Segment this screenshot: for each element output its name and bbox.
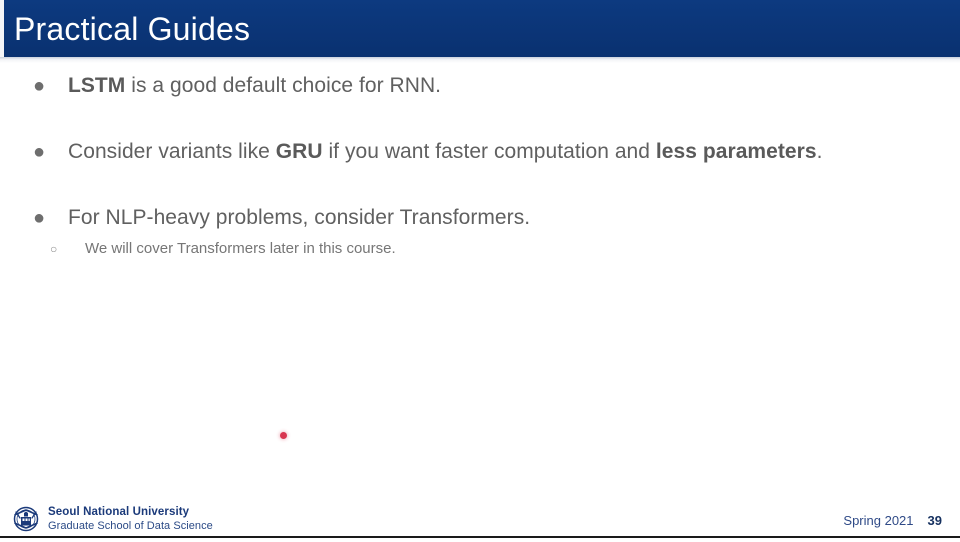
sub-list-item-text: We will cover Transformers later in this… — [85, 236, 960, 262]
sub-list-item: ○ We will cover Transformers later in th… — [0, 236, 960, 262]
bullet-filled-circle-icon: ● — [33, 202, 68, 234]
bullet-filled-circle-icon: ● — [33, 70, 68, 102]
spacer — [0, 102, 960, 136]
seoul-national-university-crest-icon — [10, 503, 42, 535]
list-item-text: Consider variants like GRU if you want f… — [68, 136, 960, 168]
footer-meta: Spring 2021 39 — [843, 513, 942, 528]
list-item-text-part: is a good default choice for RNN. — [125, 74, 441, 97]
slide-header-band: Practical Guides — [0, 0, 960, 57]
list-item: ● Consider variants like GRU if you want… — [0, 136, 960, 168]
spacer — [0, 168, 960, 202]
laser-pointer-dot — [280, 432, 287, 439]
university-logo: Seoul National University Graduate Schoo… — [10, 503, 213, 535]
list-item-text-part: if you want faster computation and — [323, 140, 656, 163]
bottom-edge-fill — [0, 538, 960, 542]
bullet-filled-circle-icon: ● — [33, 136, 68, 168]
slide-content: ● LSTM is a good default choice for RNN.… — [0, 70, 960, 262]
page-number: 39 — [928, 513, 942, 528]
term-label: Spring 2021 — [843, 513, 913, 528]
list-item: ● LSTM is a good default choice for RNN. — [0, 70, 960, 102]
emphasis-term: LSTM — [68, 74, 125, 97]
slide-canvas: Practical Guides ● LSTM is a good defaul… — [0, 0, 960, 542]
list-item-text: LSTM is a good default choice for RNN. — [68, 70, 960, 102]
emphasis-term: GRU — [276, 140, 323, 163]
header-left-edge-accent — [0, 0, 4, 57]
bullet-hollow-circle-icon: ○ — [50, 236, 85, 262]
list-item: ● For NLP-heavy problems, consider Trans… — [0, 202, 960, 234]
department-name: Graduate School of Data Science — [48, 520, 213, 533]
page-title: Practical Guides — [14, 9, 250, 49]
list-item-text: For NLP-heavy problems, consider Transfo… — [68, 202, 960, 234]
list-item-text-part: Consider variants like — [68, 140, 276, 163]
header-drop-shadow — [0, 57, 960, 63]
list-item-text-part: . — [817, 140, 823, 163]
emphasis-term: less parameters — [656, 140, 817, 163]
organization-name: Seoul National University — [48, 506, 213, 519]
university-logo-text: Seoul National University Graduate Schoo… — [48, 506, 213, 533]
